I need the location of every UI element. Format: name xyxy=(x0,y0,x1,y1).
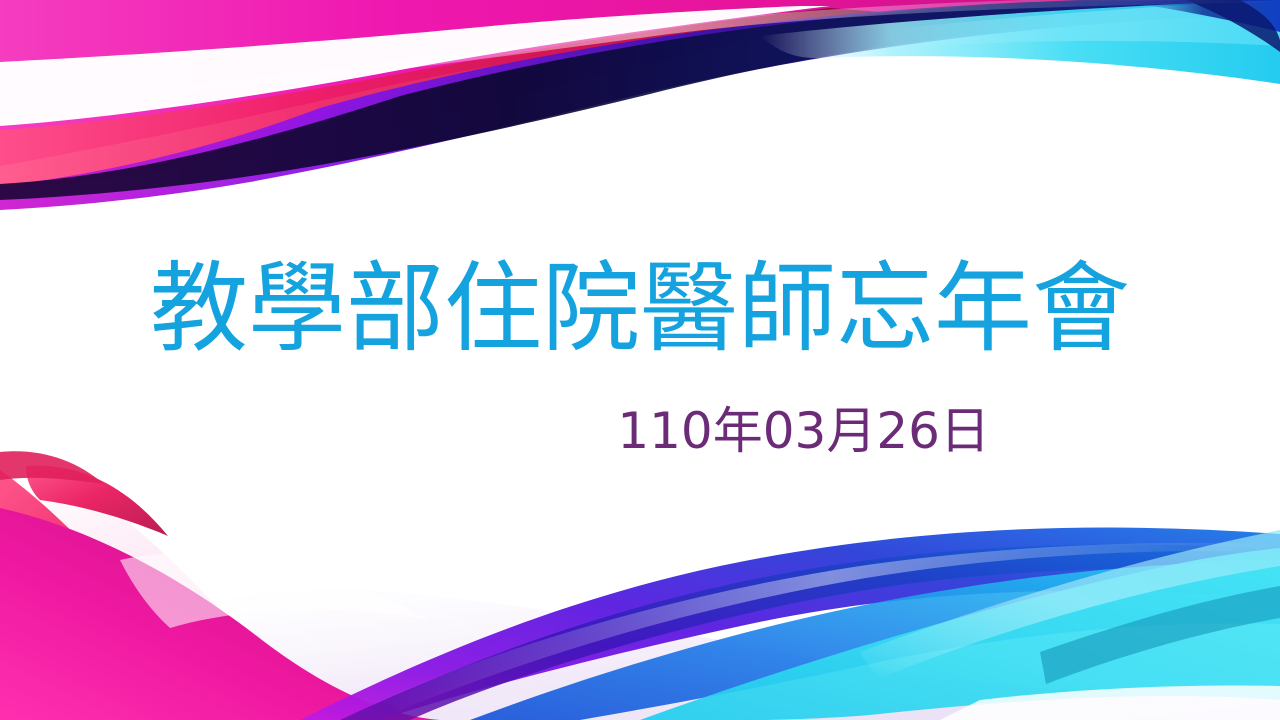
title-placeholder: 教學部住院醫師忘年會 xyxy=(90,258,1190,362)
slide-content: 教學部住院醫師忘年會 110年03月26日 xyxy=(0,0,1280,720)
subtitle-date: 110年03月26日 xyxy=(180,404,990,459)
presentation-slide: 教學部住院醫師忘年會 110年03月26日 xyxy=(0,0,1280,720)
page-title: 教學部住院醫師忘年會 xyxy=(90,258,1190,362)
subtitle-placeholder: 110年03月26日 xyxy=(180,404,990,459)
